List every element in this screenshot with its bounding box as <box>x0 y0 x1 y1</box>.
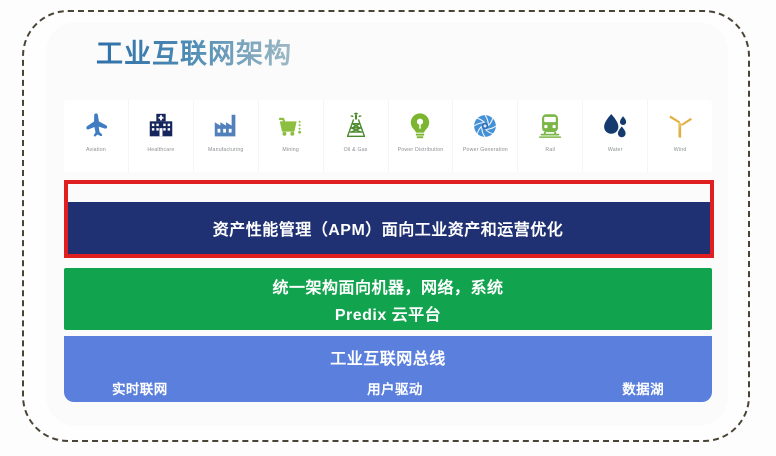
industry-card-rail[interactable]: Rail <box>518 100 582 172</box>
industry-label: Manufacturing <box>208 147 243 154</box>
page-title: 工业互联网架构 <box>96 32 292 71</box>
mining-cart-icon <box>276 107 306 145</box>
bus-item-data-lake: 数据湖 <box>622 378 664 398</box>
bus-item-user-driven: 用户驱动 <box>367 378 423 398</box>
bus-item-realtime: 实时联网 <box>112 378 168 398</box>
apm-highlight-box <box>64 180 714 258</box>
industry-card-mining[interactable]: Mining <box>259 100 323 172</box>
airplane-icon <box>81 107 111 145</box>
oil-derrick-icon <box>341 107 371 145</box>
bus-band-title: 工业互联网总线 <box>330 345 446 369</box>
turbine-icon <box>470 107 500 145</box>
predix-line-1: 统一架构面向机器，网络，系统 <box>272 274 503 298</box>
wind-turbine-icon <box>665 107 695 145</box>
industry-card-manufacturing[interactable]: Manufacturing <box>194 100 258 172</box>
industry-card-strip: Aviation Healthcare <box>64 100 712 172</box>
lightbulb-icon <box>405 107 435 145</box>
industry-card-water[interactable]: Water <box>583 100 647 172</box>
hospital-icon <box>146 107 176 145</box>
train-icon <box>535 107 565 145</box>
industry-label: Wind <box>674 147 687 154</box>
industry-label: Mining <box>282 147 298 154</box>
industry-card-aviation[interactable]: Aviation <box>64 100 128 172</box>
industry-label: Power Generation <box>463 147 508 154</box>
industrial-bus-band: 工业互联网总线 实时联网 用户驱动 数据湖 <box>64 336 712 402</box>
industry-card-healthcare[interactable]: Healthcare <box>129 100 193 172</box>
industry-label: Oil & Gas <box>344 147 368 154</box>
industry-card-oil-and-gas[interactable]: Oil & Gas <box>324 100 388 172</box>
industry-label: Healthcare <box>147 147 174 154</box>
bus-band-items: 实时联网 用户驱动 数据湖 <box>64 378 712 398</box>
predix-band: 统一架构面向机器，网络，系统 Predix 云平台 <box>64 268 712 330</box>
predix-line-2: Predix 云平台 <box>335 301 441 325</box>
industry-label: Power Distribution <box>398 147 444 154</box>
industry-card-power-distribution[interactable]: Power Distribution <box>389 100 453 172</box>
industry-card-power-generation[interactable]: Power Generation <box>453 100 517 172</box>
industry-label: Water <box>608 147 623 154</box>
industry-label: Aviation <box>86 147 106 154</box>
water-droplet-icon <box>600 107 630 145</box>
industry-card-wind[interactable]: Wind <box>648 100 712 172</box>
diagram-canvas: 工业互联网架构 Aviation Healthcare <box>0 0 776 456</box>
industry-label: Rail <box>545 147 555 154</box>
factory-icon <box>211 107 241 145</box>
